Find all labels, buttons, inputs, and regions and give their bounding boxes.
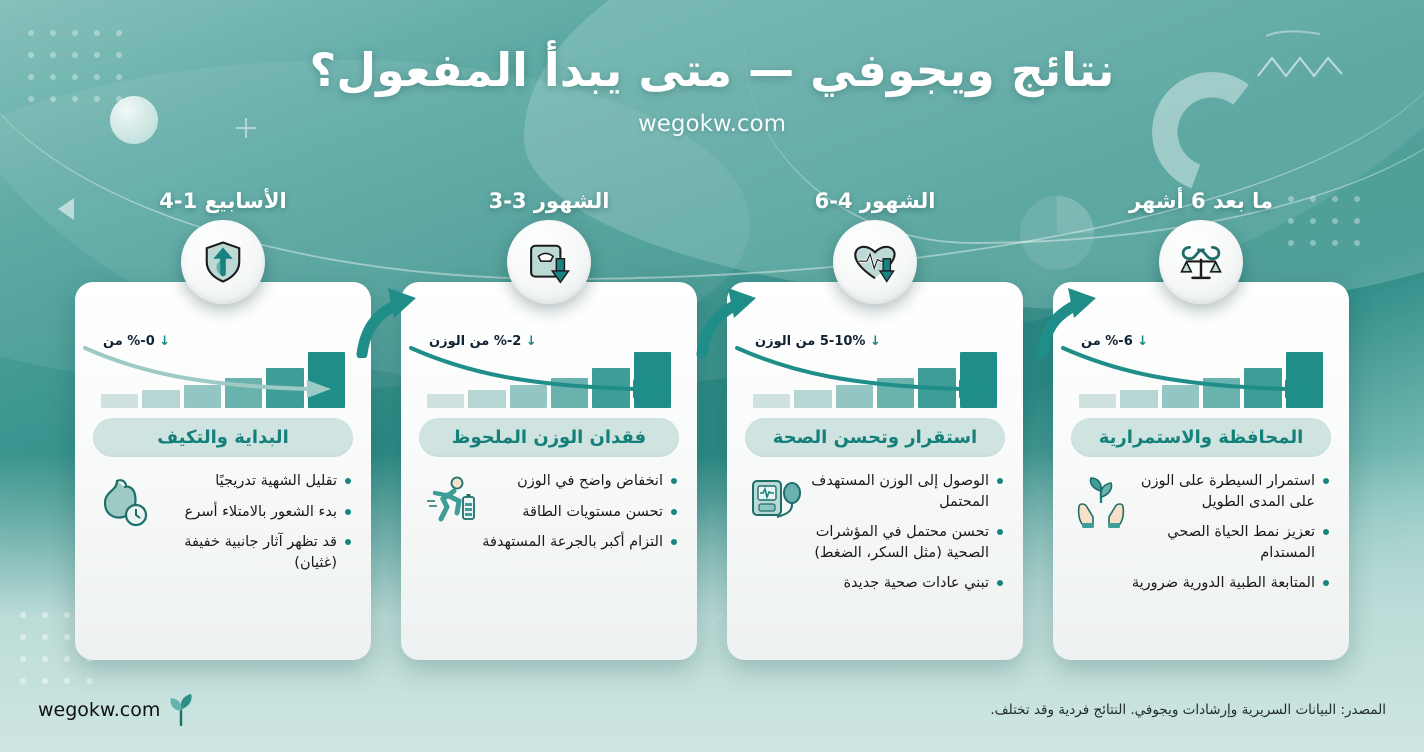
- chart-bars: [101, 352, 345, 408]
- connector-arrow-icon: [694, 278, 764, 358]
- weight-change-label: ↓ 0-% من: [103, 334, 170, 349]
- stage-period-label: الأسابيع 1-4: [75, 186, 371, 220]
- page-subtitle: wegokw.com: [0, 111, 1424, 137]
- stage-body: الوصول إلى الوزن المستهدف المحتمل تحسن م…: [741, 469, 1009, 644]
- list-item: الوصول إلى الوزن المستهدف المحتمل: [805, 471, 1003, 512]
- list-item: تحسن مستويات الطاقة: [479, 502, 677, 523]
- weight-change-label: ↓ 5-10% من الوزن: [755, 334, 881, 349]
- mini-bar-chart: ↓ 5-10% من الوزن: [747, 336, 1003, 408]
- chart-bars: [753, 352, 997, 408]
- weight-change-value: 0-% من: [103, 334, 155, 349]
- sprout-leaf-icon: [166, 693, 196, 727]
- timeline-card: ↓ 0-% من الب: [75, 282, 371, 660]
- hands-plant-icon: [1073, 473, 1129, 533]
- chart-bar: [1203, 378, 1240, 408]
- chart-bar: [877, 378, 914, 408]
- chart-bar: [960, 352, 997, 408]
- chart-bar: [308, 352, 345, 408]
- weight-change-value: 2-% من الوزن: [429, 334, 521, 349]
- list-item: بدء الشعور بالامتلاء أسرع: [153, 502, 351, 523]
- list-item: تعزيز نمط الحياة الصحي المستدام: [1131, 522, 1329, 563]
- chart-bar: [142, 390, 179, 408]
- timeline-card: ↓ 2-% من الوزن: [401, 282, 697, 660]
- brand-logo: wegokw.com: [38, 693, 196, 727]
- brand-text: wegokw.com: [38, 699, 160, 721]
- list-item: التزام أكبر بالجرعة المستهدفة: [479, 532, 677, 553]
- mini-bar-chart: ↓ 6-% من: [1073, 336, 1329, 408]
- stage-body: تقليل الشهية تدريجيًا بدء الشعور بالامتل…: [89, 469, 357, 644]
- stage-title-pill: فقدان الوزن الملحوظ: [419, 418, 679, 457]
- stage-period-label: الشهور 4-6: [727, 186, 1023, 220]
- infographic-canvas: نتائج ويجوفي — متى يبدأ المفعول؟ wegokw.…: [0, 0, 1424, 752]
- chart-bar: [918, 368, 955, 408]
- chart-bar: [794, 390, 831, 408]
- stage-title-pill: استقرار وتحسن الصحة: [745, 418, 1005, 457]
- shield-up-arrow-icon: [181, 220, 265, 304]
- list-item: قد تظهر آثار جانبية خفيفة (غثيان): [153, 532, 351, 573]
- chart-bar: [592, 368, 629, 408]
- timeline-stage-stabilization: الشهور 4-6 ↓ 5-10% من الوزن: [727, 186, 1023, 666]
- footer: المصدر: البيانات السريرية وإرشادات ويجوف…: [0, 684, 1424, 736]
- chart-bar: [1244, 368, 1281, 408]
- stage-period-label: الشهور 3-3: [401, 186, 697, 220]
- chart-bar: [184, 385, 221, 408]
- chart-bar: [551, 378, 588, 408]
- chart-bars: [427, 352, 671, 408]
- weight-change-value: 5-10% من الوزن: [755, 334, 865, 349]
- chart-bar: [634, 352, 671, 408]
- infinity-scales-icon: [1159, 220, 1243, 304]
- chart-bar: [836, 385, 873, 408]
- list-item: المتابعة الطبية الدورية ضرورية: [1131, 573, 1329, 594]
- list-item: استمرار السيطرة على الوزن على المدى الطو…: [1131, 471, 1329, 512]
- chart-bar: [1162, 385, 1199, 408]
- source-note: المصدر: البيانات السريرية وإرشادات ويجوف…: [990, 702, 1386, 718]
- header: نتائج ويجوفي — متى يبدأ المفعول؟ wegokw.…: [0, 44, 1424, 137]
- chart-bar: [1286, 352, 1323, 408]
- chart-bar: [266, 368, 303, 408]
- chart-bar: [427, 394, 464, 408]
- stage-title-pill: المحافظة والاستمرارية: [1071, 418, 1331, 457]
- connector-arrow-icon: [354, 278, 424, 358]
- chart-bar: [468, 390, 505, 408]
- page-title: نتائج ويجوفي — متى يبدأ المفعول؟: [0, 44, 1424, 97]
- stomach-clock-icon: [95, 473, 151, 533]
- chart-bar: [101, 394, 138, 408]
- weight-change-label: ↓ 2-% من الوزن: [429, 334, 537, 349]
- timeline-card-row: ما بعد 6 أشهر ↓ 6-% من: [0, 186, 1424, 666]
- chart-bar: [225, 378, 262, 408]
- mini-bar-chart: ↓ 0-% من: [95, 336, 351, 408]
- chart-bar: [1120, 390, 1157, 408]
- timeline-stage-noticeable-loss: الشهور 3-3 ↓ 2-% من الوزن: [401, 186, 697, 666]
- down-arrow-icon: ↓: [870, 334, 881, 349]
- stage-title-pill: البداية والتكيف: [93, 418, 353, 457]
- down-arrow-icon: ↓: [1137, 334, 1148, 349]
- scale-down-arrow-icon: [507, 220, 591, 304]
- stage-period-label: ما بعد 6 أشهر: [1053, 186, 1349, 220]
- down-arrow-icon: ↓: [526, 334, 537, 349]
- stage-body: استمرار السيطرة على الوزن على المدى الطو…: [1067, 469, 1335, 644]
- list-item: تبني عادات صحية جديدة: [805, 573, 1003, 594]
- blood-pressure-monitor-icon: [747, 473, 803, 533]
- mini-bar-chart: ↓ 2-% من الوزن: [421, 336, 677, 408]
- chart-bar: [753, 394, 790, 408]
- list-item: تحسن محتمل في المؤشرات الصحية (مثل السكر…: [805, 522, 1003, 563]
- connector-arrow-icon: [1034, 278, 1104, 358]
- chart-bar: [1079, 394, 1116, 408]
- timeline-card: ↓ 5-10% من الوزن: [727, 282, 1023, 660]
- chart-bar: [510, 385, 547, 408]
- down-arrow-icon: ↓: [159, 334, 170, 349]
- heart-pulse-down-icon: [833, 220, 917, 304]
- runner-battery-icon: [421, 473, 477, 533]
- timeline-stage-maintenance: ما بعد 6 أشهر ↓ 6-% من: [1053, 186, 1349, 666]
- background-dash-icon: [1264, 26, 1324, 42]
- timeline-stage-start-adaptation: الأسابيع 1-4 ↓ 0-% من: [75, 186, 371, 666]
- chart-bars: [1079, 352, 1323, 408]
- stage-body: انخفاض واضح في الوزن تحسن مستويات الطاقة…: [415, 469, 683, 644]
- list-item: انخفاض واضح في الوزن: [479, 471, 677, 492]
- list-item: تقليل الشهية تدريجيًا: [153, 471, 351, 492]
